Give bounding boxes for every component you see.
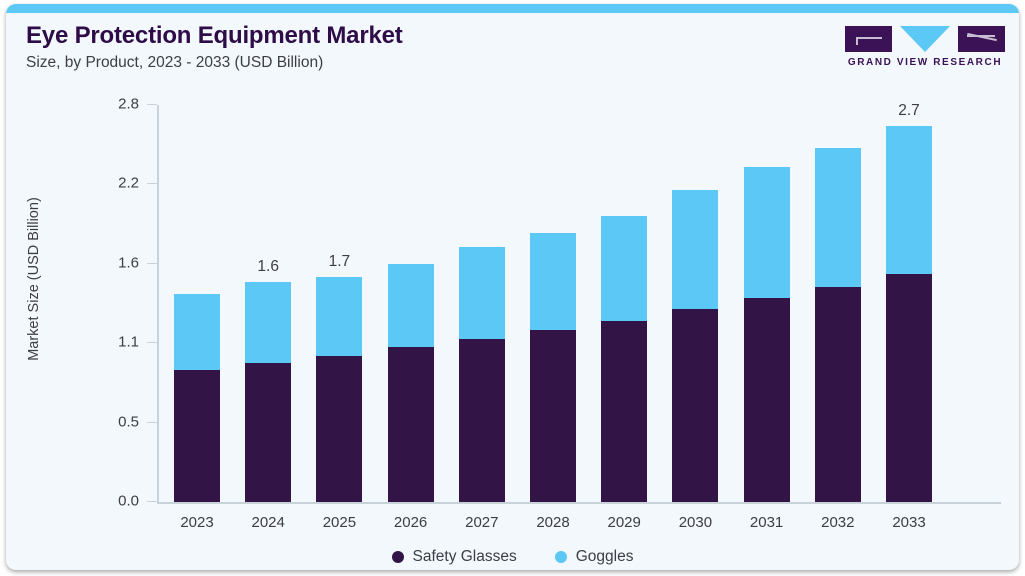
x-axis-tick-label: 2023: [180, 514, 213, 531]
y-axis-tick-label: 1.6: [118, 254, 139, 271]
y-axis-tick: 2.2: [147, 183, 157, 184]
bar-group[interactable]: 2023: [174, 294, 220, 502]
legend-label: Goggles: [576, 548, 634, 566]
bar-series-container: 20231.620241.720252026202720282029203020…: [157, 105, 1001, 502]
bar-segment-goggles[interactable]: [245, 282, 291, 363]
y-axis-title: Market Size (USD Billion): [26, 159, 42, 399]
logo-r-icon: [958, 26, 1005, 52]
bar-segment-safety-glasses[interactable]: [815, 287, 861, 503]
brand-logo: GRAND VIEW RESEARCH: [845, 26, 1005, 68]
legend-swatch-icon: [392, 551, 404, 563]
logo-v-icon: [900, 26, 950, 52]
x-axis-tick-label: 2032: [821, 514, 854, 531]
x-axis-tick-label: 2026: [394, 514, 427, 531]
chart-card: Eye Protection Equipment Market Size, by…: [6, 4, 1019, 570]
y-axis-tick-label: 2.2: [118, 175, 139, 192]
legend-item[interactable]: Goggles: [555, 548, 634, 566]
x-axis-tick-label: 2029: [608, 514, 641, 531]
chart-area: Market Size (USD Billion) 0.00.51.11.62.…: [6, 96, 1019, 570]
x-axis-tick-label: 2033: [892, 514, 925, 531]
bar-segment-goggles[interactable]: [815, 148, 861, 287]
x-axis-tick-label: 2027: [465, 514, 498, 531]
bar-group[interactable]: 2030: [672, 190, 718, 502]
x-axis-tick-label: 2024: [252, 514, 285, 531]
bar-segment-safety-glasses[interactable]: [174, 370, 220, 502]
bar-group[interactable]: 1.62024: [245, 282, 291, 502]
bar-segment-goggles[interactable]: [388, 264, 434, 348]
bar-segment-goggles[interactable]: [886, 126, 932, 273]
bar-segment-safety-glasses[interactable]: [672, 309, 718, 502]
bar-segment-goggles[interactable]: [744, 167, 790, 297]
y-axis-tick-label: 0.5: [118, 413, 139, 430]
logo-marks: [845, 26, 1005, 52]
bar-segment-safety-glasses[interactable]: [388, 347, 434, 502]
bar-segment-goggles[interactable]: [530, 233, 576, 331]
bar-value-label: 1.7: [329, 253, 351, 271]
bar-segment-safety-glasses[interactable]: [316, 356, 362, 502]
bar-segment-safety-glasses[interactable]: [601, 321, 647, 502]
x-axis-tick-label: 2028: [536, 514, 569, 531]
y-axis-tick-label: 0.0: [118, 493, 139, 510]
y-axis-tick: 1.1: [147, 342, 157, 343]
bar-value-label: 2.7: [898, 102, 920, 120]
bar-segment-safety-glasses[interactable]: [886, 274, 932, 502]
x-axis-tick-label: 2025: [323, 514, 356, 531]
legend-label: Safety Glasses: [413, 548, 517, 566]
legend-item[interactable]: Safety Glasses: [392, 548, 517, 566]
bar-segment-goggles[interactable]: [316, 277, 362, 356]
bar-segment-goggles[interactable]: [601, 216, 647, 321]
bar-segment-goggles[interactable]: [672, 190, 718, 309]
y-axis-tick: 1.6: [147, 263, 157, 264]
bar-group[interactable]: 2026: [388, 264, 434, 502]
y-axis-tick: 2.8: [147, 104, 157, 105]
x-axis-tick-label: 2031: [750, 514, 783, 531]
chart-legend: Safety GlassesGoggles: [6, 548, 1019, 566]
bar-group[interactable]: 2032: [815, 148, 861, 502]
bar-group[interactable]: 2029: [601, 216, 647, 502]
bar-segment-safety-glasses[interactable]: [744, 298, 790, 502]
legend-swatch-icon: [555, 551, 567, 563]
plot-region: 0.00.51.11.62.22.8 20231.620241.72025202…: [157, 105, 1001, 502]
bar-group[interactable]: 2.72033: [886, 126, 932, 502]
y-axis-tick: 0.5: [147, 422, 157, 423]
top-accent-bar: [6, 4, 1019, 13]
logo-wordmark: GRAND VIEW RESEARCH: [845, 57, 1005, 68]
x-axis-line: [157, 502, 1001, 504]
bar-group[interactable]: 1.72025: [316, 277, 362, 502]
y-axis-tick-label: 2.8: [118, 96, 139, 113]
logo-g-icon: [845, 26, 892, 52]
bar-segment-safety-glasses[interactable]: [459, 339, 505, 502]
bar-group[interactable]: 2028: [530, 233, 576, 502]
bar-group[interactable]: 2031: [744, 167, 790, 502]
bar-segment-safety-glasses[interactable]: [245, 363, 291, 502]
bar-value-label: 1.6: [257, 258, 279, 276]
bar-segment-goggles[interactable]: [174, 294, 220, 371]
x-axis-tick-label: 2030: [679, 514, 712, 531]
y-axis-tick: 0.0: [147, 501, 157, 502]
bar-segment-goggles[interactable]: [459, 247, 505, 339]
y-axis-tick-label: 1.1: [118, 334, 139, 351]
bar-segment-safety-glasses[interactable]: [530, 330, 576, 502]
bar-group[interactable]: 2027: [459, 247, 505, 502]
